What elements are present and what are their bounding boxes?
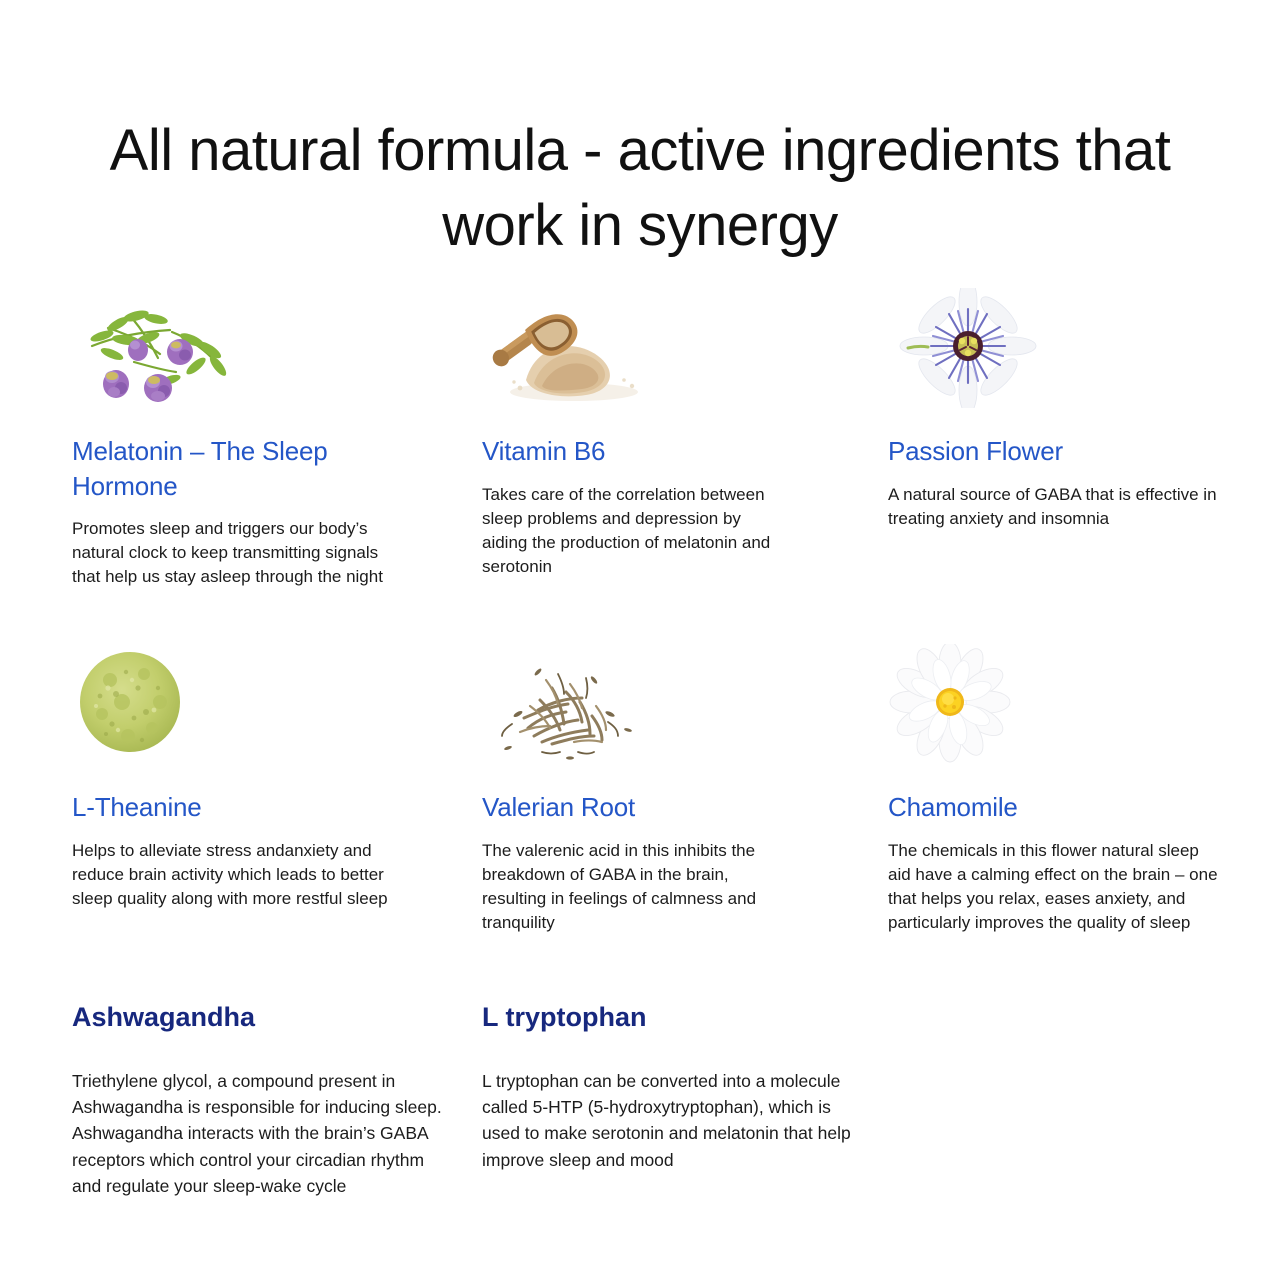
ingredient-title: Passion Flower [888,434,1228,469]
ingredient-card-melatonin: Melatonin – The Sleep Hormone Promotes s… [72,288,412,590]
ingredient-title: Chamomile [888,790,1228,825]
ingredient-grid: Melatonin – The Sleep Hormone Promotes s… [0,288,1280,1000]
ingredients-infographic: All natural formula - active ingredients… [0,0,1280,1280]
ingredient-title: Vitamin B6 [482,434,822,469]
wooden-scoop-powder-image [482,288,657,408]
page-title: All natural formula - active ingredients… [70,113,1210,264]
ingredient-title: L-Theanine [72,790,402,825]
ingredient-row-2: L-Theanine Helps to alleviate stress and… [0,644,1280,1000]
green-powder-mound-image [72,644,247,764]
ingredient-description: The valerenic acid in this inhibits the … [482,839,772,936]
dried-valerian-root-image [482,644,657,764]
ingredient-description: The chemicals in this flower natural sle… [888,839,1218,936]
ingredient-description: Takes care of the correlation between sl… [482,483,772,580]
ingredient-card-vitamin-b6: Vitamin B6 Takes care of the correlation… [482,288,822,579]
ingredient-description: Triethylene glycol, a compound present i… [72,1068,442,1199]
ingredient-card-valerian-root: Valerian Root The valerenic acid in this… [482,644,822,935]
ingredient-description: Promotes sleep and triggers our body’s n… [72,517,392,589]
ingredient-title: Ashwagandha [72,1000,402,1036]
ingredient-description: L tryptophan can be converted into a mol… [482,1068,852,1173]
ingredient-description: Helps to alleviate stress andanxiety and… [72,839,392,911]
ingredient-card-chamomile: Chamomile The chemicals in this flower n… [888,644,1228,935]
ingredient-title: Melatonin – The Sleep Hormone [72,434,402,503]
ingredient-card-ashwagandha: Ashwagandha Triethylene glycol, a compou… [72,1000,452,1199]
ingredient-card-l-tryptophan: L tryptophan L tryptophan can be convert… [482,1000,862,1173]
ingredient-row-1: Melatonin – The Sleep Hormone Promotes s… [0,288,1280,644]
ingredient-title: L tryptophan [482,1000,862,1036]
passion-flower-image [888,288,1063,408]
chamomile-flower-image [888,644,1063,764]
ingredient-card-l-theanine: L-Theanine Helps to alleviate stress and… [72,644,412,911]
ingredient-title: Valerian Root [482,790,822,825]
ingredient-description: A natural source of GABA that is effecti… [888,483,1218,531]
ingredient-card-passion-flower: Passion Flower A natural source of GABA … [888,288,1228,531]
alfalfa-sprig-image [72,288,247,408]
